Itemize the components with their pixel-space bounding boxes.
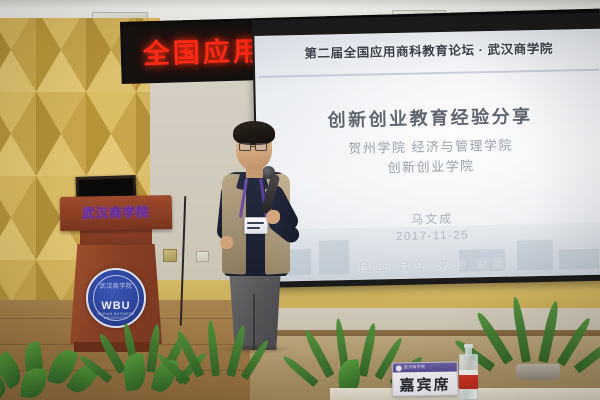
emblem-acronym: WBU: [88, 300, 144, 312]
conference-photo-scene: 全国应用 育论 第二届全国应用商科教育论坛 · 武汉商学院 创新创业教育经验分享…: [0, 0, 600, 400]
plant-frond: [206, 320, 220, 377]
emblem-chinese-text: 武汉商学院: [88, 281, 144, 290]
presenter-right-hand: [266, 210, 280, 224]
podium-neck: [80, 229, 152, 245]
badge-text-line-2: [247, 227, 260, 229]
plant-leaf: [20, 367, 47, 399]
bottle-label-top-stripe: [459, 370, 478, 375]
glasses-right-lens-icon: [255, 143, 267, 151]
led-banner-text-left: 全国应用: [142, 29, 263, 71]
podium-top: 武汉商学院: [60, 195, 173, 231]
guest-card-label: 嘉宾席: [393, 373, 457, 395]
plant-right-of-podium: [178, 320, 298, 400]
plant-far-right: [480, 296, 600, 396]
plant-frond: [538, 300, 561, 363]
plant-frond: [358, 322, 378, 377]
glasses-left-lens-icon: [239, 143, 251, 151]
presenter-person: [200, 118, 310, 348]
glasses-bridge-icon: [251, 146, 255, 147]
guest-card-header: 武汉商学院: [393, 362, 457, 372]
guest-seat-card: 武汉商学院 嘉宾席: [392, 361, 459, 396]
guest-card-logo-icon: [396, 365, 402, 371]
bottle-cap: [464, 344, 473, 348]
plant-leaf: [121, 353, 148, 392]
name-badge: [244, 217, 268, 234]
guest-card-org-text: 武汉商学院: [404, 364, 426, 370]
podium-name-plate: 武汉商学院: [60, 201, 172, 222]
water-bottle: [459, 344, 478, 400]
plant-frond: [241, 339, 271, 381]
ceiling-shadow: [0, 0, 600, 9]
microphone-head-icon: [262, 166, 275, 179]
badge-text-line-1: [247, 222, 264, 224]
plant-pot: [516, 364, 560, 380]
presenter-left-hand: [220, 236, 233, 249]
presenter-hair: [233, 121, 275, 145]
plant-frond: [511, 296, 531, 363]
